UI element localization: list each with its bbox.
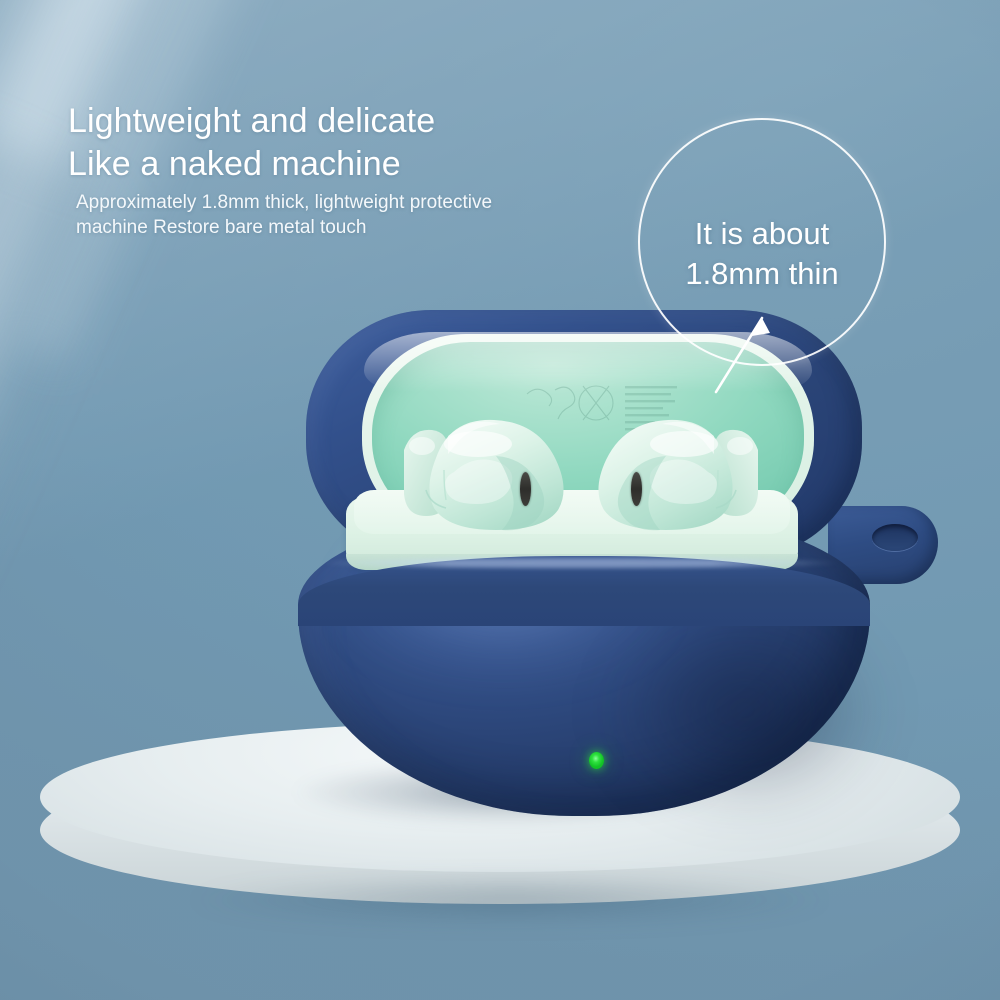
vignette: [0, 0, 1000, 1000]
product-marketing-image: It is about 1.8mm thin Lightweight and d…: [0, 0, 1000, 1000]
